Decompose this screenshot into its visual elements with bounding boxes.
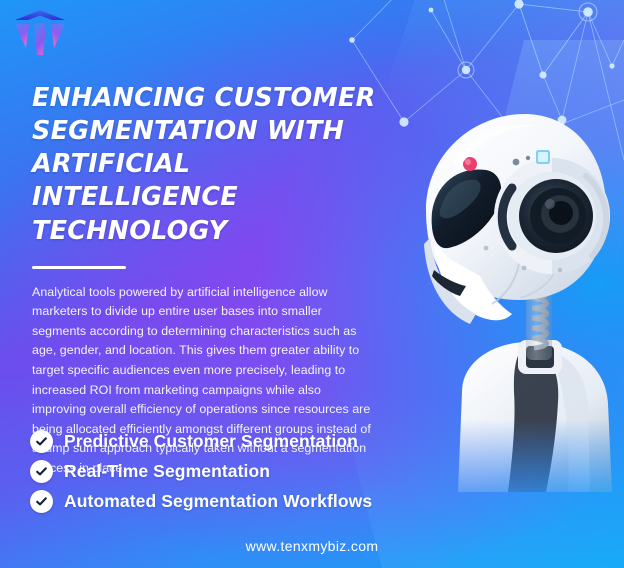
list-item: Real-Time Segmentation <box>30 456 460 486</box>
list-item-label: Real-Time Segmentation <box>64 461 270 482</box>
list-item: Predictive Customer Segmentation <box>30 426 460 456</box>
check-circle-icon <box>30 460 53 483</box>
feature-checklist: Predictive Customer Segmentation Real-Ti… <box>30 426 460 516</box>
check-circle-icon <box>30 430 53 453</box>
site-url[interactable]: www.tenxmybiz.com <box>0 538 624 554</box>
title-divider <box>32 266 126 269</box>
poster-canvas: Enhancing Customer Segmentation with Art… <box>0 0 624 568</box>
list-item: Automated Segmentation Workflows <box>30 486 460 516</box>
check-circle-icon <box>30 490 53 513</box>
page-title: Enhancing Customer Segmentation with Art… <box>32 82 387 248</box>
list-item-label: Automated Segmentation Workflows <box>64 491 372 512</box>
content-column: Enhancing Customer Segmentation with Art… <box>32 82 392 479</box>
tenx-chevron-logo-icon[interactable] <box>12 8 68 60</box>
list-item-label: Predictive Customer Segmentation <box>64 431 358 452</box>
